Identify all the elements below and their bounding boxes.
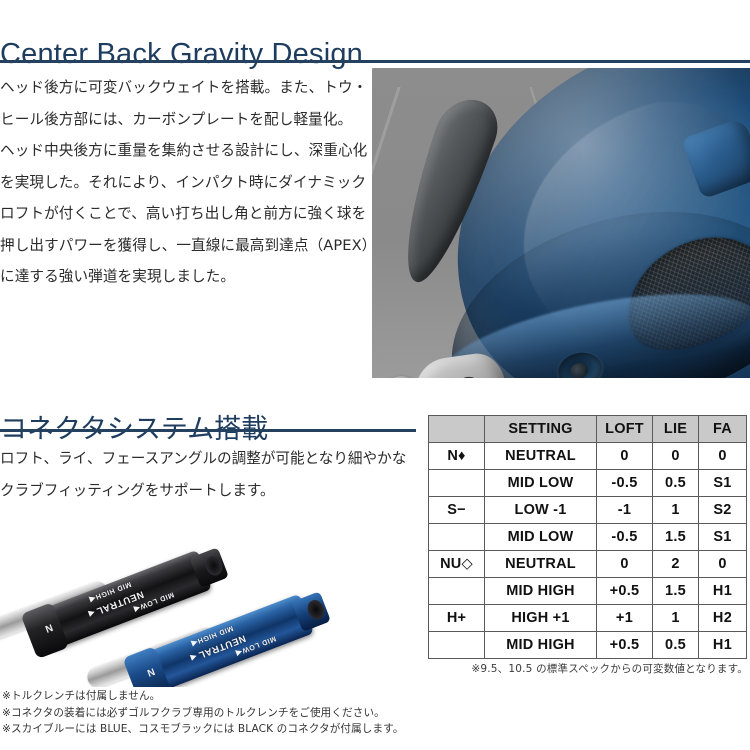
- section1-body-line: を実現した。それにより、インパクト時にダイナミック: [0, 167, 360, 199]
- blue-connector-tip: [292, 591, 331, 632]
- row-lie: 1.5: [653, 524, 699, 551]
- row-key: NU◇: [429, 551, 485, 578]
- footnote-line: ※コネクタの装着には必ずゴルフクラブ専用のトルクレンチをご使用ください。: [2, 705, 462, 722]
- row-setting: NEUTRAL: [485, 551, 597, 578]
- column-header-key: [429, 416, 485, 443]
- black-connector-mid-low-label: MID LOW: [138, 590, 175, 611]
- table-row: NU◇ NEUTRAL 0 2 0: [429, 551, 747, 578]
- column-header-setting: SETTING: [485, 416, 597, 443]
- row-loft: -0.5: [597, 470, 653, 497]
- section1-body-line: ヘッド中央後方に重量を集約させる設計にし、深重心化: [0, 135, 360, 167]
- row-lie: 1: [653, 497, 699, 524]
- row-fa: 0: [699, 443, 747, 470]
- row-fa: S1: [699, 470, 747, 497]
- row-key: [429, 470, 485, 497]
- connector-photo: ◀ ◀ ◀ MID HIGH NEUTRAL MID LOW N ◀ ◀ ◀ M…: [0, 512, 400, 687]
- section1-body-line: ロフトが付くことで、高い打ち出し角と前方に強く球を: [0, 198, 360, 230]
- column-header-fa: FA: [699, 416, 747, 443]
- black-connector-tip: [190, 547, 229, 588]
- section1-body-line: ヒール後方部には、カーボンプレートを配し軽量化。: [0, 104, 360, 136]
- section1-body-line: に達する強い弾道を実現しました。: [0, 261, 360, 293]
- row-setting: MID HIGH: [485, 632, 597, 659]
- section1-divider: [0, 60, 750, 63]
- footnotes: ※トルクレンチは付属しません。 ※コネクタの装着には必ずゴルフクラブ専用のトルク…: [2, 688, 462, 738]
- blue-connector-mid-low-label: MID LOW: [240, 634, 277, 655]
- spec-table-note: ※9.5、10.5 の標準スペックからの可変数値となります。: [428, 661, 748, 676]
- row-loft: 0: [597, 443, 653, 470]
- row-loft: -0.5: [597, 524, 653, 551]
- section2-body-line: ロフト、ライ、フェースアングルの調整が可能となり細やかな: [0, 443, 380, 475]
- section2-divider: [0, 429, 416, 432]
- row-fa: H2: [699, 605, 747, 632]
- column-header-loft: LOFT: [597, 416, 653, 443]
- row-key: H+: [429, 605, 485, 632]
- footnote-line: ※トルクレンチは付属しません。: [2, 688, 462, 705]
- table-row: MID HIGH +0.5 0.5 H1: [429, 632, 747, 659]
- table-body: N♦ NEUTRAL 0 0 0 MID LOW -0.5 0.5 S1 S− …: [429, 443, 747, 659]
- row-setting: LOW -1: [485, 497, 597, 524]
- footnote-line: ※スカイブルーには BLUE、コスモブラックには BLACK のコネクタが付属し…: [2, 721, 462, 738]
- row-fa: S1: [699, 524, 747, 551]
- section2-body-text: ロフト、ライ、フェースアングルの調整が可能となり細やかな クラブフィッティングを…: [0, 443, 380, 507]
- section1-body-line: ヘッド後方に可変バックウェイトを搭載。また、トウ・: [0, 72, 360, 104]
- table-row: S− LOW -1 -1 1 S2: [429, 497, 747, 524]
- row-fa: H1: [699, 632, 747, 659]
- section1-body-text: ヘッド後方に可変バックウェイトを搭載。また、トウ・ ヒール後方部には、カーボンプ…: [0, 72, 360, 293]
- row-setting: MID LOW: [485, 470, 597, 497]
- table-row: H+ HIGH +1 +1 1 H2: [429, 605, 747, 632]
- adjustment-spec-table: SETTING LOFT LIE FA N♦ NEUTRAL 0 0 0 MID…: [428, 415, 747, 659]
- row-setting: HIGH +1: [485, 605, 597, 632]
- row-fa: 0: [699, 551, 747, 578]
- row-fa: S2: [699, 497, 747, 524]
- row-loft: -1: [597, 497, 653, 524]
- row-lie: 0.5: [653, 632, 699, 659]
- row-lie: 1.5: [653, 578, 699, 605]
- row-loft: +0.5: [597, 578, 653, 605]
- row-loft: +0.5: [597, 632, 653, 659]
- table-row: MID LOW -0.5 1.5 S1: [429, 524, 747, 551]
- table-row: MID HIGH +0.5 1.5 H1: [429, 578, 747, 605]
- row-setting: MID LOW: [485, 524, 597, 551]
- table-header-row: SETTING LOFT LIE FA: [429, 416, 747, 443]
- black-connector-collar: [20, 602, 69, 659]
- row-key: [429, 578, 485, 605]
- row-lie: 2: [653, 551, 699, 578]
- row-lie: 0.5: [653, 470, 699, 497]
- row-key: S−: [429, 497, 485, 524]
- row-key: [429, 524, 485, 551]
- row-setting: NEUTRAL: [485, 443, 597, 470]
- row-loft: +1: [597, 605, 653, 632]
- row-loft: 0: [597, 551, 653, 578]
- row-setting: MID HIGH: [485, 578, 597, 605]
- row-lie: 1: [653, 605, 699, 632]
- row-key: N♦: [429, 443, 485, 470]
- column-header-lie: LIE: [653, 416, 699, 443]
- row-key: [429, 632, 485, 659]
- driver-head-render-image: [372, 68, 750, 378]
- table-row: N♦ NEUTRAL 0 0 0: [429, 443, 747, 470]
- section1-body-line: 押し出すパワーを獲得し、一直線に最高到達点（APEX）: [0, 230, 360, 262]
- row-lie: 0: [653, 443, 699, 470]
- table-row: MID LOW -0.5 0.5 S1: [429, 470, 747, 497]
- row-fa: H1: [699, 578, 747, 605]
- section2-body-line: クラブフィッティングをサポートします。: [0, 475, 380, 507]
